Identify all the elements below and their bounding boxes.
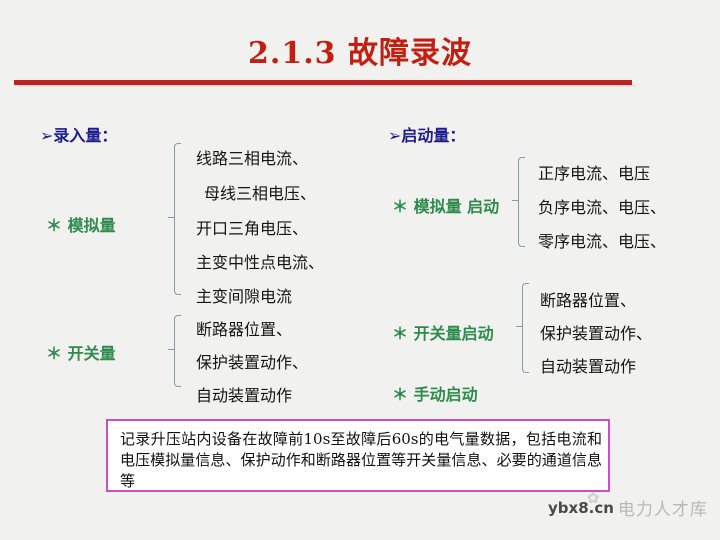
list-item: 开口三角电压、 (196, 215, 308, 239)
list-item: 线路三相电流、 (196, 145, 308, 169)
list-item: 负序电流、电压、 (538, 194, 666, 218)
group-label-analog-trigger: ＊ 模拟量 启动 (392, 193, 499, 217)
flower-icon: ✿ (586, 491, 600, 505)
list-item: 自动装置动作 (196, 382, 292, 406)
list-item: 保护装置动作、 (540, 320, 652, 344)
list-item: 自动装置动作 (540, 353, 636, 377)
list-item: 断路器位置、 (196, 316, 292, 340)
slide-canvas: 2.1.3 故障录波 ➢录入量： ＊ 模拟量 线路三相电流、 母线三相电压、 开… (0, 0, 720, 540)
list-item: 断路器位置、 (540, 287, 636, 311)
list-item: 保护装置动作、 (196, 349, 308, 373)
description-text: 记录升压站内设备在故障前10s至故障后60s的电气量数据，包括电流和电压模拟量信… (120, 429, 602, 492)
left-column-heading: ➢录入量： (40, 122, 117, 146)
group-label-binary-trigger: ＊ 开关量启动 (392, 320, 494, 344)
list-item: 正序电流、电压 (538, 160, 650, 184)
brace-binary-input (168, 315, 182, 387)
page-title: 2.1.3 故障录波 (0, 28, 720, 72)
group-label-manual-trigger: ＊ 手动启动 (392, 381, 478, 405)
list-item: 主变间隙电流 (196, 283, 292, 307)
list-item: 主变中性点电流、 (196, 249, 324, 273)
brace-analog-input (168, 143, 182, 295)
watermark: ybx8.cn ✿ 电力人才库 (548, 495, 708, 520)
description-box: 记录升压站内设备在故障前10s至故障后60s的电气量数据，包括电流和电压模拟量信… (106, 419, 610, 492)
right-column-heading: ➢启动量： (388, 122, 465, 146)
title-rule (14, 80, 632, 85)
watermark-brand: 电力人才库 (618, 495, 708, 520)
watermark-url: ybx8.cn (548, 499, 614, 517)
title-rule-shadow (18, 85, 636, 87)
group-label-binary-input: ＊ 开关量 (46, 340, 116, 364)
list-item: 零序电流、电压、 (538, 228, 666, 252)
brace-analog-trigger (512, 157, 526, 247)
group-label-analog-input: ＊ 模拟量 (46, 212, 116, 236)
list-item: 母线三相电压、 (204, 180, 316, 204)
brace-binary-trigger (516, 283, 530, 373)
